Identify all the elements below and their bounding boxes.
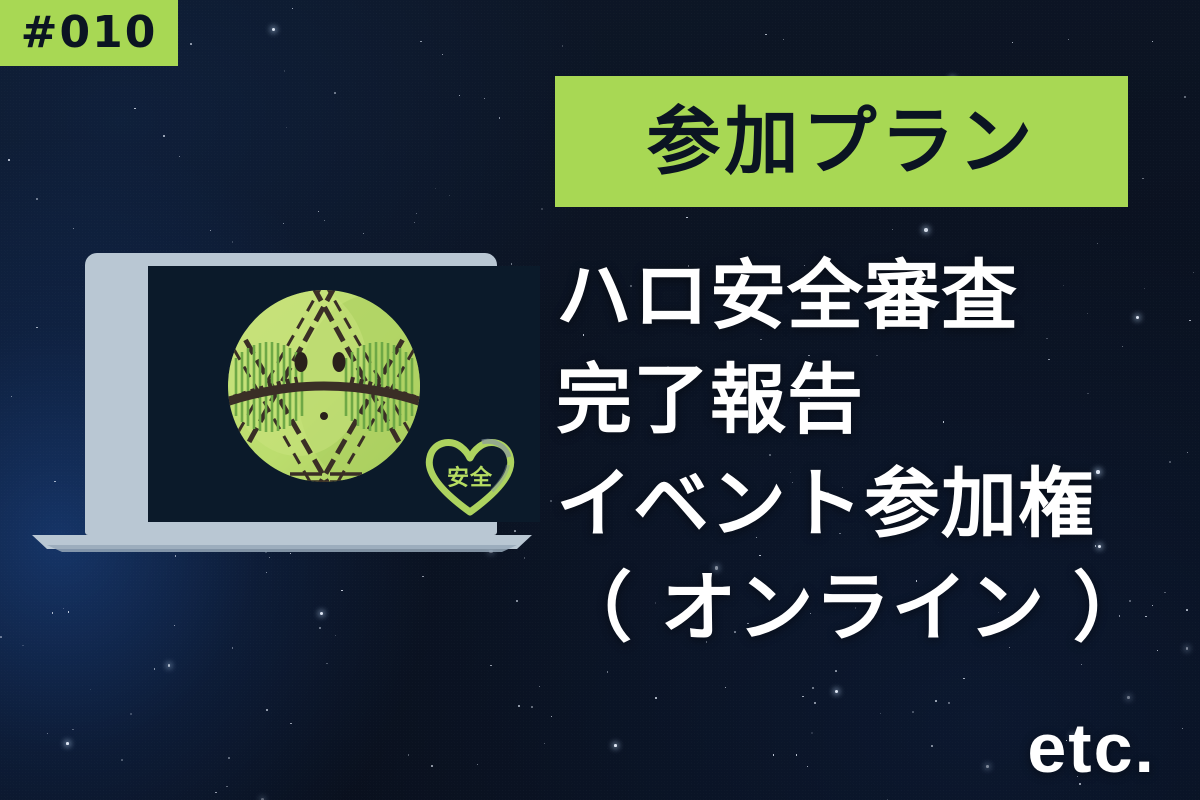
laptop-base-edge [32, 545, 532, 552]
star [90, 689, 91, 690]
star [179, 156, 180, 157]
star [1142, 178, 1144, 180]
star [1182, 728, 1183, 729]
star [36, 198, 38, 200]
copy-line-3: イベント参加権 [556, 452, 1156, 556]
star [228, 757, 230, 759]
star [499, 117, 500, 118]
issue-number-tag: #010 [0, 0, 178, 66]
star [11, 396, 12, 397]
star [1157, 650, 1158, 651]
star [551, 716, 552, 717]
copy-block: ハロ安全審査 完了報告 イベント参加権 （ オンライン ） etc. [556, 244, 1156, 800]
plan-badge: 参加プラン [555, 76, 1128, 207]
star-bright [66, 742, 69, 745]
star [163, 135, 165, 137]
star [562, 45, 563, 46]
star [22, 645, 24, 647]
star [363, 233, 364, 234]
star [783, 39, 784, 40]
star [518, 705, 520, 707]
star [892, 229, 893, 230]
star [290, 723, 291, 724]
laptop-screen: 安全 [148, 266, 540, 522]
star [531, 706, 532, 707]
safety-stamp: 安全 [420, 429, 520, 519]
star [72, 729, 74, 731]
star [516, 600, 518, 602]
haro-right-eye [333, 352, 346, 372]
star [210, 230, 212, 232]
star [335, 635, 336, 636]
star [266, 572, 268, 574]
star [1186, 609, 1188, 611]
star [416, 213, 417, 214]
star [1193, 272, 1194, 273]
star [130, 713, 131, 714]
star [73, 228, 74, 229]
plan-badge-label: 参加プラン [647, 105, 1037, 179]
copy-line-1: ハロ安全審査 [556, 244, 1156, 348]
star [524, 557, 526, 559]
star [8, 159, 10, 161]
star [484, 98, 486, 100]
star [68, 611, 69, 612]
star [765, 34, 767, 36]
star [232, 241, 233, 242]
copy-line-4: （ オンライン ） [556, 556, 1156, 660]
safety-stamp-label: 安全 [420, 429, 520, 519]
star [550, 500, 552, 502]
star [539, 686, 540, 687]
star [420, 41, 421, 42]
star [544, 743, 546, 745]
haro-left-eye [295, 352, 308, 372]
star [408, 754, 409, 755]
star [1184, 96, 1186, 98]
star [1012, 42, 1013, 43]
star-bright [272, 28, 275, 31]
copy-etc-label: etc. [556, 696, 1156, 800]
star [266, 709, 268, 711]
star [0, 636, 2, 638]
star [283, 223, 284, 224]
star [490, 665, 492, 667]
laptop-illustration: 安全 [32, 250, 532, 555]
star [541, 208, 543, 210]
star [341, 590, 342, 591]
star [1169, 461, 1171, 463]
star [686, 217, 688, 219]
haro-chin-dot [320, 412, 328, 420]
star [924, 228, 928, 232]
star [154, 668, 156, 670]
star [168, 664, 171, 667]
star [435, 188, 436, 189]
star [52, 612, 53, 613]
star [431, 765, 433, 767]
star [284, 70, 285, 71]
star [449, 195, 450, 196]
star [1164, 592, 1166, 594]
star [477, 764, 478, 765]
laptop-lid: 安全 [85, 253, 497, 535]
star [334, 92, 336, 94]
star [175, 555, 177, 557]
star [324, 220, 325, 221]
star [269, 557, 270, 558]
star [326, 663, 327, 664]
star [292, 8, 293, 9]
star [47, 733, 48, 734]
star [1068, 39, 1069, 40]
star [190, 43, 192, 45]
star [232, 647, 233, 648]
star [134, 108, 136, 110]
issue-number-label: #010 [21, 11, 158, 55]
star [318, 211, 319, 212]
star [1189, 320, 1191, 322]
star [174, 625, 175, 626]
star [215, 792, 217, 794]
star [459, 95, 460, 96]
star [422, 576, 423, 577]
star [319, 627, 321, 629]
star [63, 608, 64, 609]
star [414, 222, 415, 223]
star-bright [320, 612, 323, 615]
copy-line-2: 完了報告 [556, 348, 1156, 452]
star [286, 127, 287, 128]
star [1186, 647, 1189, 650]
star [121, 759, 123, 761]
star [1152, 41, 1153, 42]
star [226, 786, 227, 787]
star [1187, 452, 1188, 453]
star [442, 54, 443, 55]
poster-canvas: #010 参加プラン ハロ安全審査 完了報告 イベント参加権 （ オンライン ）… [0, 0, 1200, 800]
